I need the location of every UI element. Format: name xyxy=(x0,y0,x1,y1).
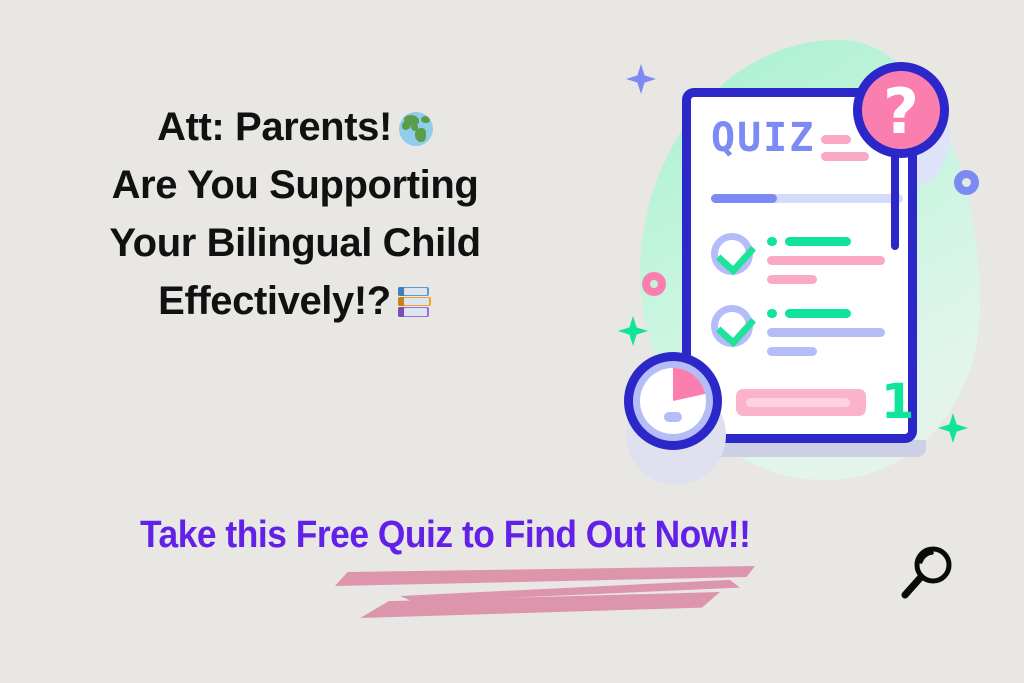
poster-canvas: Att: Parents! Are You Supporting Your Bi… xyxy=(0,0,1024,683)
row1-bar-green xyxy=(785,237,851,246)
check-icon-1 xyxy=(716,234,757,275)
progress-track xyxy=(711,194,903,203)
question-number: 1 xyxy=(881,378,914,426)
sparkle-periwinkle-top-left-icon xyxy=(626,64,656,94)
ring-periwinkle-right-icon xyxy=(954,170,979,195)
books-emoji xyxy=(398,286,432,320)
cta-text[interactable]: Take this Free Quiz to Find Out Now!! xyxy=(140,514,750,557)
headline-line-1-text: Att: Parents! xyxy=(157,105,392,149)
sparkle-green-right-icon xyxy=(938,413,968,443)
timer-face xyxy=(640,368,706,434)
row1-bar-pink-long xyxy=(767,256,885,265)
row2-bar-periwinkle-short xyxy=(767,347,817,356)
question-mark-glyph: ? xyxy=(862,73,940,151)
title-dash-lower xyxy=(821,152,869,161)
row2-bullet-dot xyxy=(767,309,777,318)
headline: Att: Parents! Are You Supporting Your Bi… xyxy=(60,98,530,330)
progress-fill xyxy=(711,194,777,203)
sparkle-green-left-icon xyxy=(618,316,648,346)
question-mark-badge: ? xyxy=(853,62,949,158)
timer-pip xyxy=(664,412,682,422)
checkmark-circle-1 xyxy=(711,233,753,275)
quiz-title: QUIZ xyxy=(711,118,815,158)
headline-line-4-text: Effectively!? xyxy=(158,279,391,323)
timer-clock xyxy=(624,352,722,450)
row2-bar-periwinkle-long xyxy=(767,328,885,337)
headline-line-1: Att: Parents! xyxy=(60,98,530,156)
magnifying-glass-icon[interactable] xyxy=(896,543,958,605)
ring-pink-left-icon xyxy=(642,272,666,296)
row2-bar-green xyxy=(785,309,851,318)
headline-line-4: Effectively!? xyxy=(60,272,530,330)
title-dash-upper xyxy=(821,135,851,144)
answer-bar xyxy=(736,389,866,416)
row1-bullet-dot xyxy=(767,237,777,246)
globe-americas-emoji xyxy=(399,112,433,146)
headline-line-2: Are You Supporting xyxy=(60,156,530,214)
brush-stroke-underline xyxy=(330,558,760,620)
row1-bar-pink-short xyxy=(767,275,817,284)
quiz-illustration: QUIZ 1 xyxy=(600,20,1024,490)
answer-bar-inner xyxy=(746,398,850,407)
timer-wedge xyxy=(673,368,706,401)
check-icon-2 xyxy=(716,306,757,347)
headline-line-3: Your Bilingual Child xyxy=(60,214,530,272)
checkmark-circle-2 xyxy=(711,305,753,347)
